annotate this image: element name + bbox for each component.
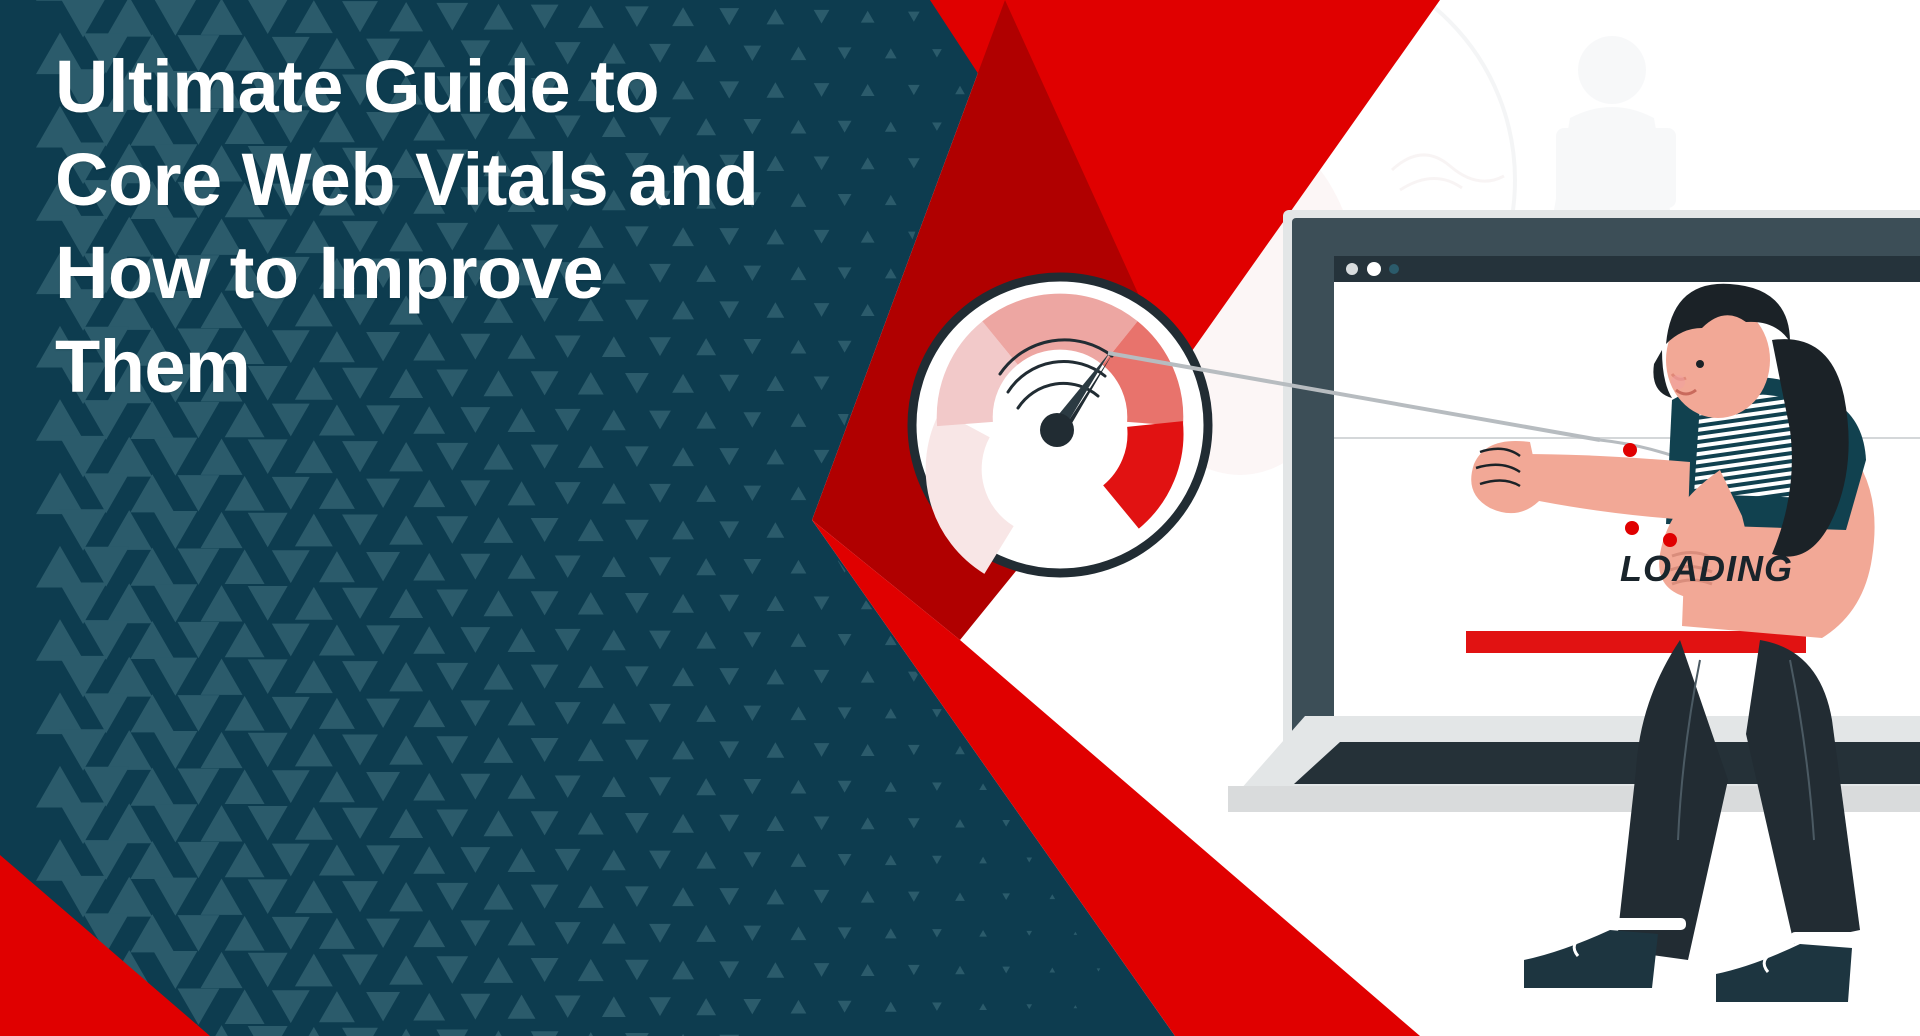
shoe-sole-back [1790, 932, 1876, 944]
accent-dot-2 [1625, 521, 1639, 535]
leg-back [1746, 640, 1860, 944]
shoe-sole-front [1600, 918, 1686, 930]
loading-label: LOADING [1620, 548, 1793, 590]
page-title: Ultimate Guide to Core Web Vitals and Ho… [55, 40, 885, 413]
accent-dot-1 [1623, 443, 1637, 457]
shoe-back [1716, 944, 1852, 1002]
cheek-blush [1671, 375, 1685, 389]
shoe-front [1524, 930, 1658, 988]
arm-far [1524, 454, 1690, 520]
leg-front [1616, 640, 1728, 960]
hero-banner: Ultimate Guide to Core Web Vitals and Ho… [0, 0, 1920, 1036]
eye [1696, 360, 1704, 368]
accent-dot-3 [1663, 533, 1677, 547]
